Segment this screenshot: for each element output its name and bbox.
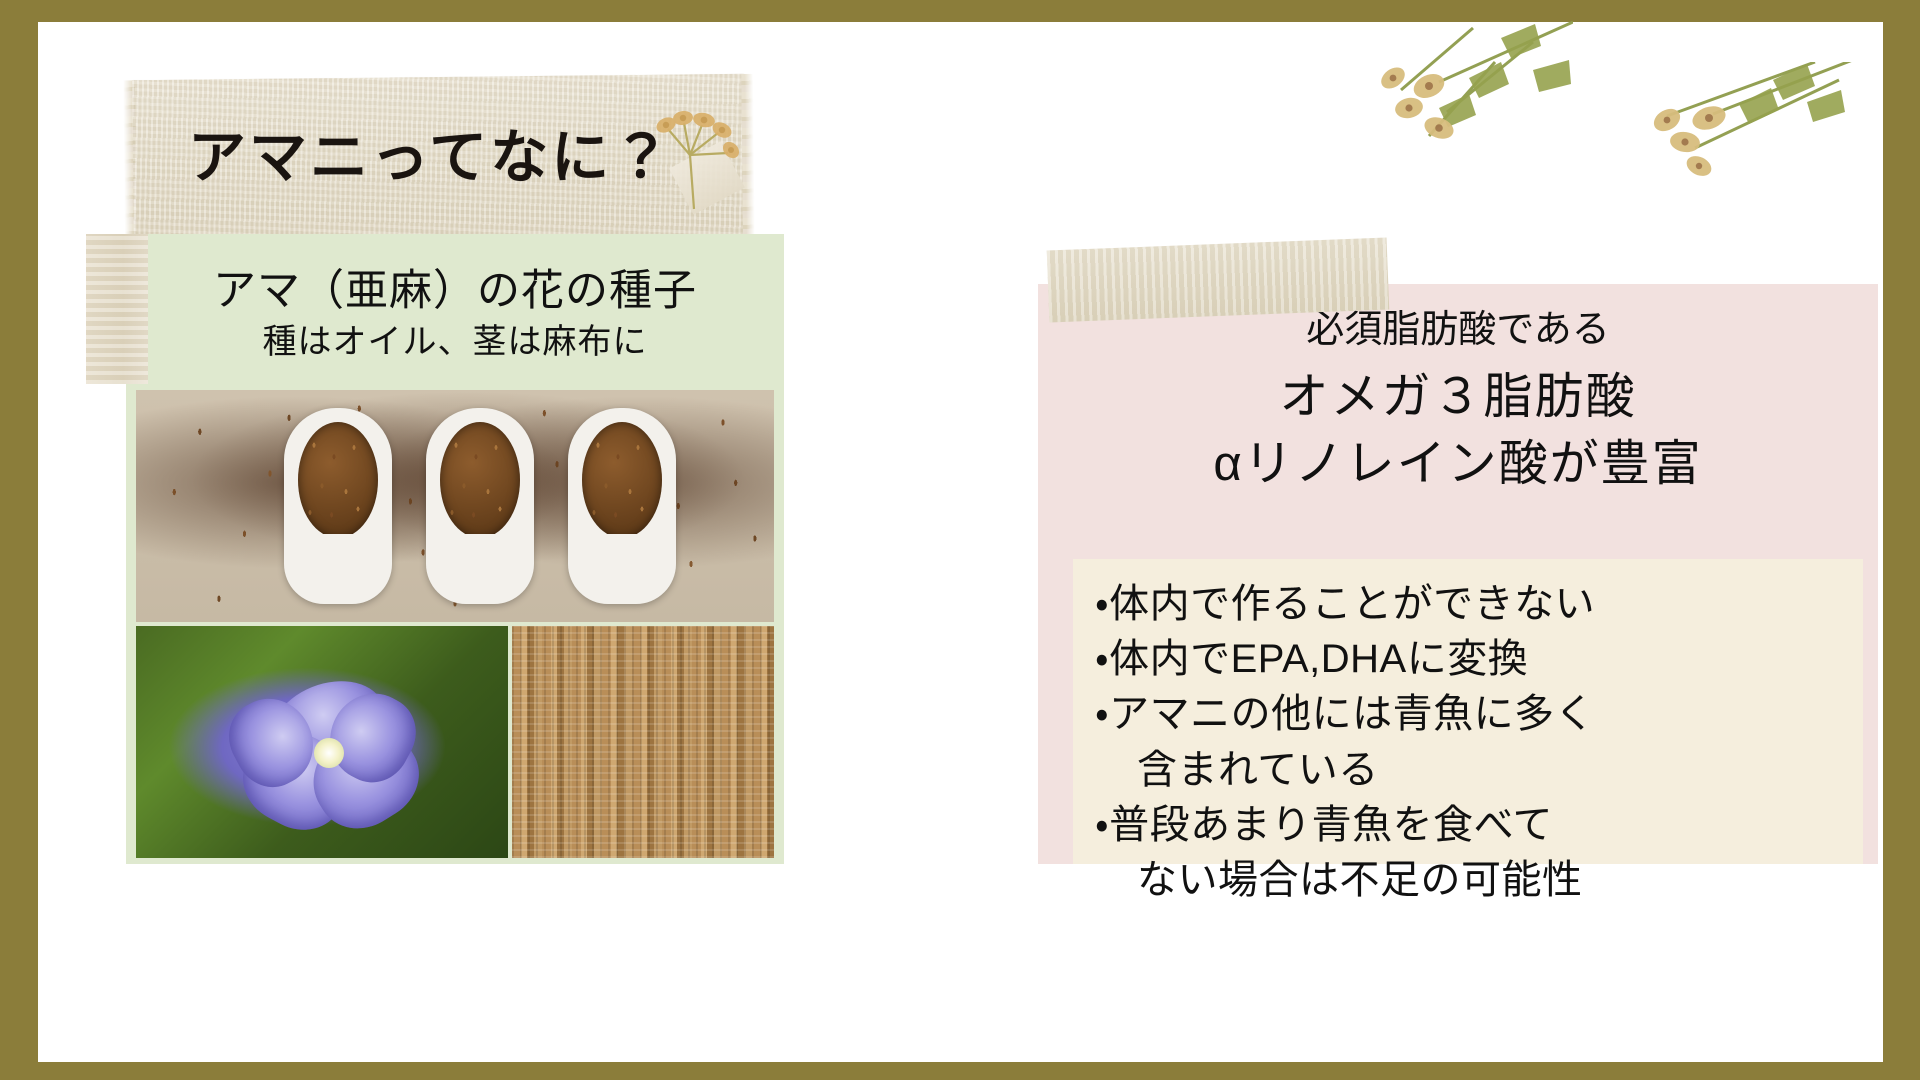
benefits-list-item: ・体内で作ることができない	[1095, 577, 1845, 632]
slide-page: アマニってなに？ アマ（亜麻）の花の種子 種はオイル、茎は麻布に	[38, 22, 1883, 1062]
spoon-icon	[284, 408, 392, 604]
left-panel-subheading: 種はオイル、茎は麻布に	[126, 314, 784, 363]
dried-flower-sprig-icon	[628, 77, 768, 217]
slide-root: アマニってなに？ アマ（亜麻）の花の種子 種はオイル、茎は麻布に	[0, 0, 1920, 1080]
flower-center	[314, 738, 344, 768]
linen-burlap-weave-photo	[512, 626, 774, 858]
pink-panel-tape	[1047, 238, 1390, 323]
benefits-list-item: ・アマニの他には青魚に多く	[1095, 687, 1845, 742]
benefits-bullet-list: ・体内で作ることができない・体内でEPA,DHAに変換・アマニの他には青魚に多く…	[1073, 573, 1863, 908]
spoon-icon	[568, 408, 676, 604]
benefits-list-item: ・普段あまり青魚を食べて	[1095, 798, 1845, 853]
flax-blue-flower-photo	[136, 626, 508, 858]
benefits-list-box: ・体内で作ることができない・体内でEPA,DHAに変換・アマニの他には青魚に多く…	[1073, 559, 1863, 864]
dried-flower-branch-right-icon	[1563, 62, 1863, 242]
right-panel-heading-2: オメガ３脂肪酸	[1038, 357, 1878, 428]
benefits-list-item: ない場合は不足の可能性	[1095, 853, 1845, 908]
green-panel-tape	[86, 234, 148, 384]
benefits-list-item: 含まれている	[1095, 743, 1845, 798]
left-panel-heading: アマ（亜麻）の花の種子	[126, 256, 784, 318]
benefits-list-item: ・体内でEPA,DHAに変換	[1095, 632, 1845, 687]
right-panel-heading-3: αリノレイン酸が豊富	[1038, 424, 1878, 495]
page-title: アマニってなに？	[188, 110, 673, 194]
flaxseeds-with-spoons-photo	[136, 390, 774, 622]
dried-flower-branch-left-icon	[1233, 16, 1573, 206]
spoon-icon	[426, 408, 534, 604]
burlap-texture	[512, 626, 774, 858]
